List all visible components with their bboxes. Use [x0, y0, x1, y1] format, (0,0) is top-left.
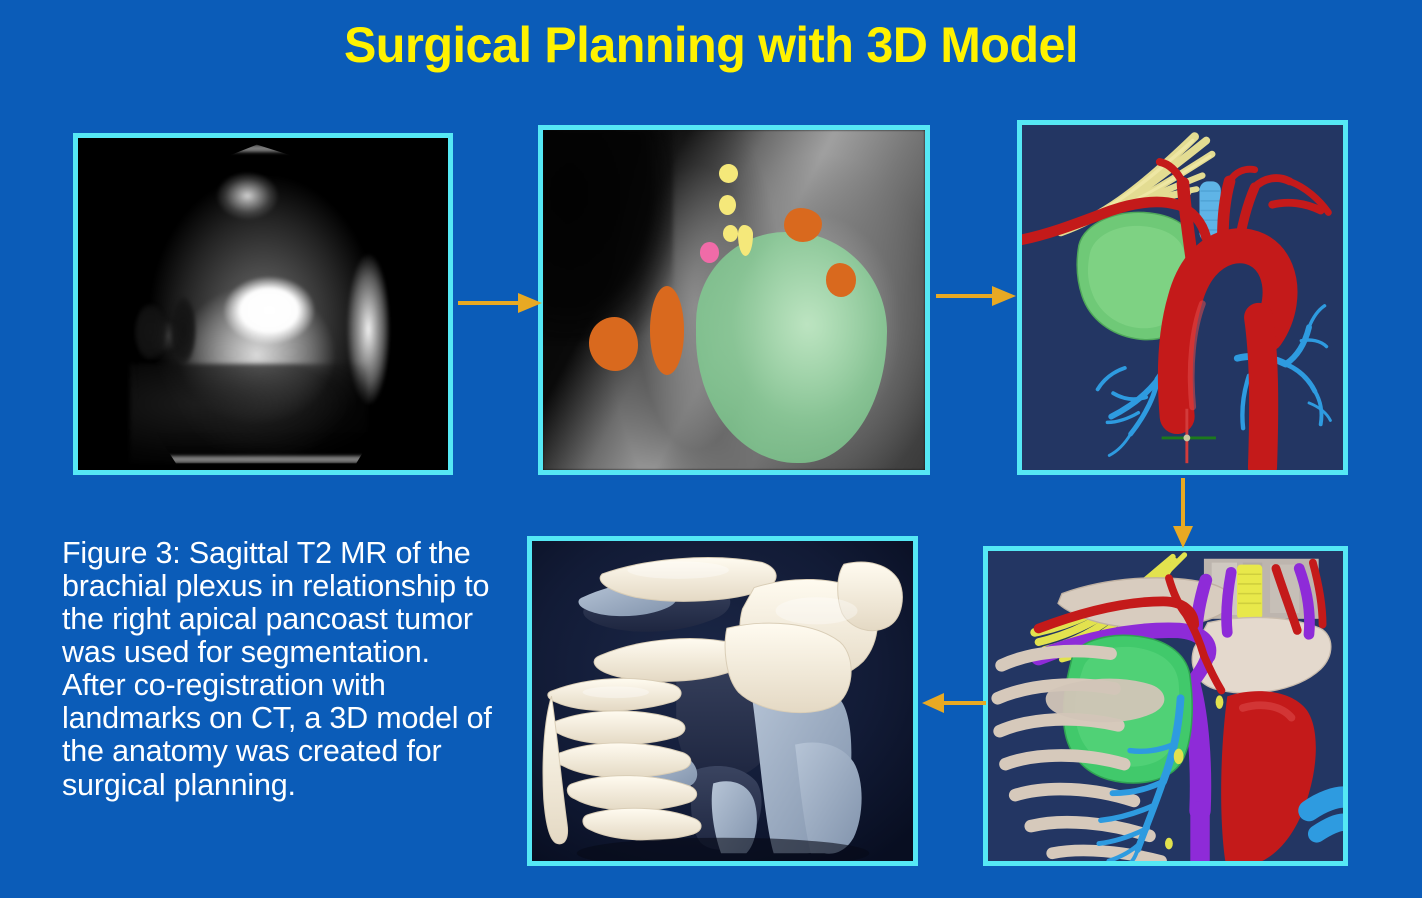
full-model-render: [988, 551, 1343, 861]
panel-printed-model-photo[interactable]: [527, 536, 918, 866]
trachea-mesh: [1237, 565, 1262, 619]
overlay-marker-pink: [700, 242, 719, 262]
arrow-right-icon: [936, 283, 1016, 309]
overlay-vessel-orange-4: [826, 263, 857, 297]
slide-canvas: Surgical Planning with 3D Model: [0, 0, 1422, 898]
panel-3d-full-model[interactable]: [983, 546, 1348, 866]
panel-segmented-mri[interactable]: [538, 125, 930, 475]
arrow-full-model-to-printed-model: [922, 690, 986, 716]
arrow-segmentation-to-vessel-model: [936, 283, 1016, 309]
figure-caption: Figure 3: Sagittal T2 MR of the brachial…: [62, 537, 492, 802]
arrow-left-icon: [922, 690, 986, 716]
overlay-nerve-root-2: [719, 195, 737, 215]
page-title: Surgical Planning with 3D Model: [21, 18, 1400, 73]
printed-model-photo: [532, 541, 913, 861]
overlay-nerve-root-3: [723, 225, 738, 242]
arrow-mri-to-segmentation: [458, 290, 542, 316]
vessel-model-graphic: [1022, 125, 1343, 470]
panel-3d-vessel-model[interactable]: [1017, 120, 1348, 475]
overlay-vessel-orange-2: [650, 286, 684, 374]
segmented-mri-image: [543, 130, 925, 470]
mri-chest-wall-rim: [108, 145, 419, 464]
full-model-graphic: [988, 551, 1343, 861]
arrow-right-icon: [458, 290, 542, 316]
panel-sagittal-mri[interactable]: [73, 133, 453, 475]
vessel-model-render: [1022, 125, 1343, 470]
overlay-nerve-root-1: [719, 164, 738, 183]
arrow-vessel-model-to-full-model: [1170, 478, 1196, 548]
arrow-down-icon: [1170, 478, 1196, 548]
mri-image: [78, 138, 448, 470]
overlay-vessel-orange-1: [589, 317, 639, 371]
printed-model-graphic: [532, 541, 913, 861]
